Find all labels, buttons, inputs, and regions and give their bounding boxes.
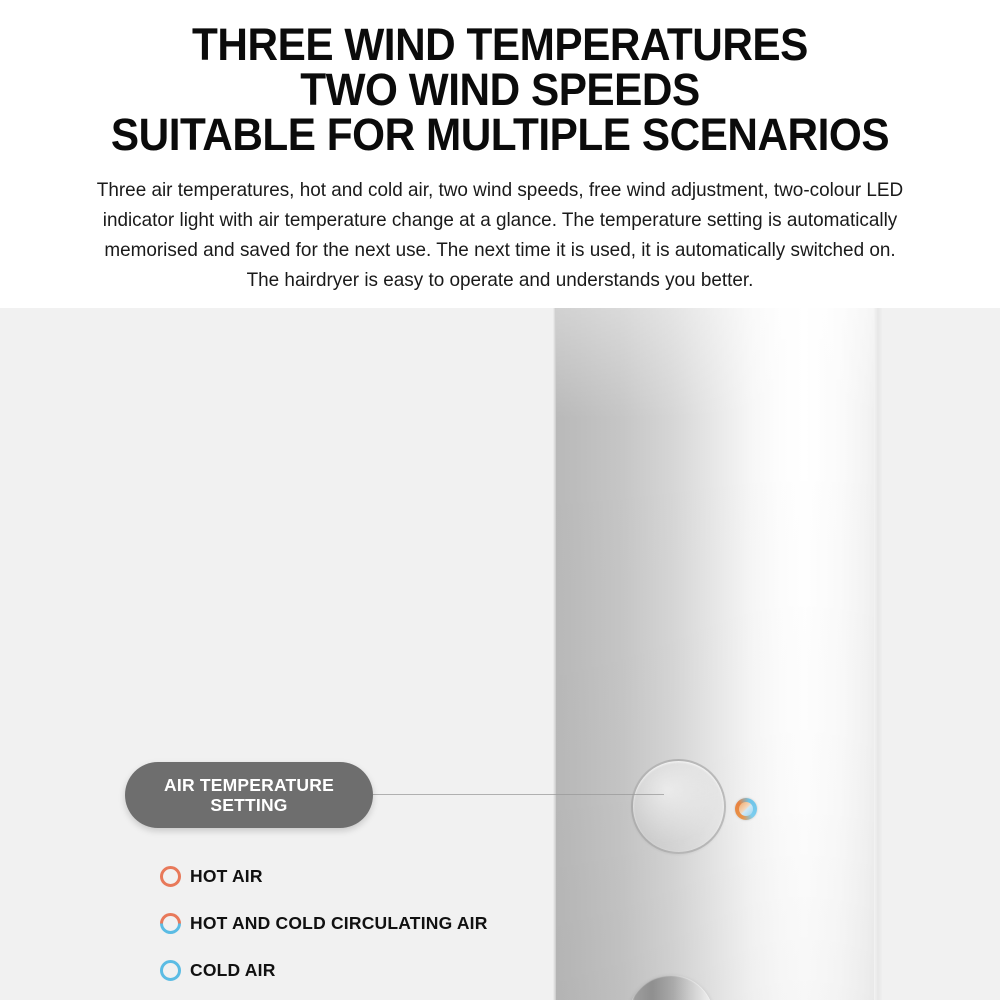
legend-label-hot-air: HOT AIR: [190, 866, 263, 887]
legend-label-cold-air: COLD AIR: [190, 960, 276, 981]
product-photo-stage: AIR TEMPERATURE SETTING HOT AIR HOT AND …: [0, 308, 1000, 1000]
headline-line-2: TWO WIND SPEEDS: [30, 67, 970, 112]
legend-item-cold-air: COLD AIR: [160, 947, 488, 994]
cold-air-ring-icon: [160, 960, 190, 981]
legend-label-hot-and-cold: HOT AND COLD CIRCULATING AIR: [190, 913, 488, 934]
temperature-legend: HOT AIR HOT AND COLD CIRCULATING AIR COL…: [160, 853, 488, 994]
callout-air-temperature-setting[interactable]: AIR TEMPERATURE SETTING: [125, 762, 373, 828]
hot-and-cold-ring-icon: [160, 913, 190, 934]
headline-line-3: SUITABLE FOR MULTIPLE SCENARIOS: [30, 112, 970, 157]
header-section: THREE WIND TEMPERATURES TWO WIND SPEEDS …: [0, 0, 1000, 308]
led-indicator-icon: [735, 798, 757, 820]
headline-line-1: THREE WIND TEMPERATURES: [30, 22, 970, 67]
callout-temp-title-line1: AIR TEMPERATURE: [164, 775, 334, 795]
hot-air-ring-icon: [160, 866, 190, 887]
hairdryer-left-edge: [553, 308, 556, 1000]
temperature-leader-line: [372, 794, 664, 795]
hairdryer-right-edge: [874, 308, 882, 1000]
description-line-1: Three air temperatures, hot and cold air…: [44, 175, 956, 205]
description-paragraph: Three air temperatures, hot and cold air…: [15, 175, 985, 295]
description-line-4: The hairdryer is easy to operate and und…: [44, 265, 956, 295]
legend-item-hot-air: HOT AIR: [160, 853, 488, 900]
legend-item-hot-and-cold: HOT AND COLD CIRCULATING AIR: [160, 900, 488, 947]
page-title: THREE WIND TEMPERATURES TWO WIND SPEEDS …: [30, 0, 970, 157]
callout-temp-title-line2: SETTING: [164, 795, 334, 815]
hairdryer-body: [553, 308, 881, 1000]
temperature-button[interactable]: [631, 759, 726, 854]
description-line-3: memorised and saved for the next use. Th…: [44, 235, 956, 265]
description-line-2: indicator light with air temperature cha…: [44, 205, 956, 235]
